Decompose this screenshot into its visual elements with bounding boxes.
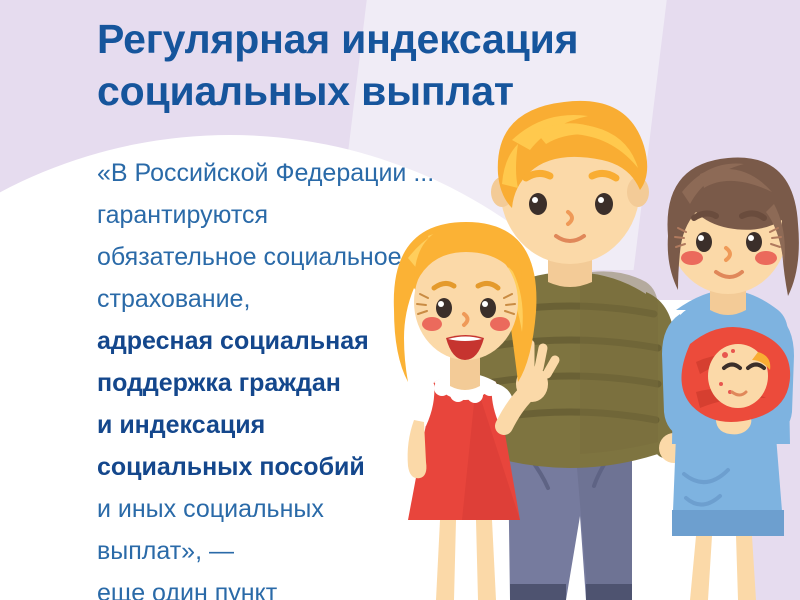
quote-line: социальных пособий — [97, 446, 427, 488]
father-eye-glint-left — [532, 197, 538, 203]
quote-line: еще один пункт — [97, 572, 427, 600]
father-pants-shadow — [576, 456, 632, 600]
baby-figure — [681, 327, 790, 422]
baby-freckle-1 — [722, 352, 728, 358]
daughter-collar-scallop-4 — [482, 380, 498, 396]
daughter-eye-glint-right — [482, 301, 488, 307]
quote-line: и иных социальных — [97, 488, 427, 530]
quote-line: обязательное социальное — [97, 236, 427, 278]
mother-figure — [662, 158, 799, 600]
father-cuff-right — [586, 584, 632, 600]
mother-eye-glint-right — [748, 235, 754, 241]
baby-freckle-2 — [731, 349, 735, 353]
page-title-line-1: Регулярная индексация — [97, 13, 517, 65]
daughter-leg-right — [476, 520, 496, 600]
daughter-eye-glint-left — [438, 301, 444, 307]
quote-line: «В Российской Федерации ... — [97, 152, 427, 194]
daughter-eye-left — [436, 298, 452, 318]
mother-leg-right — [736, 536, 756, 600]
father-eye-left — [529, 193, 547, 215]
daughter-cheek-right — [490, 317, 510, 331]
poster-canvas: Регулярная индексация социальных выплат … — [0, 0, 800, 600]
quote-line: страхование, — [97, 278, 427, 320]
mother-leg-left — [690, 536, 712, 600]
mother-eye-left — [696, 232, 712, 252]
quote-line: выплат», — — [97, 530, 427, 572]
baby-freckle-3 — [719, 382, 723, 386]
quote-text-block: «В Российской Федерации ...гарантируются… — [97, 152, 427, 600]
daughter-collar-scallop-1 — [434, 380, 450, 396]
daughter-eye-right — [480, 298, 496, 318]
family-illustration — [380, 96, 800, 600]
mother-eye-right — [746, 232, 762, 252]
quote-line: поддержка граждан — [97, 362, 427, 404]
page-title: Регулярная индексация социальных выплат — [97, 13, 517, 117]
mother-cheek-left — [681, 251, 703, 265]
father-cuff-left — [510, 584, 566, 600]
quote-line: гарантируются — [97, 194, 427, 236]
daughter-leg-left — [436, 520, 456, 600]
page-title-line-2: социальных выплат — [97, 65, 517, 117]
mother-eye-glint-left — [698, 235, 704, 241]
father-sweater-shadow — [580, 271, 658, 454]
father-eye-glint-right — [598, 197, 604, 203]
mother-cheek-right — [755, 251, 777, 265]
mother-skirt-hem — [672, 510, 784, 536]
quote-line: адресная социальная — [97, 320, 427, 362]
quote-line: и индексация — [97, 404, 427, 446]
father-eye-right — [595, 193, 613, 215]
